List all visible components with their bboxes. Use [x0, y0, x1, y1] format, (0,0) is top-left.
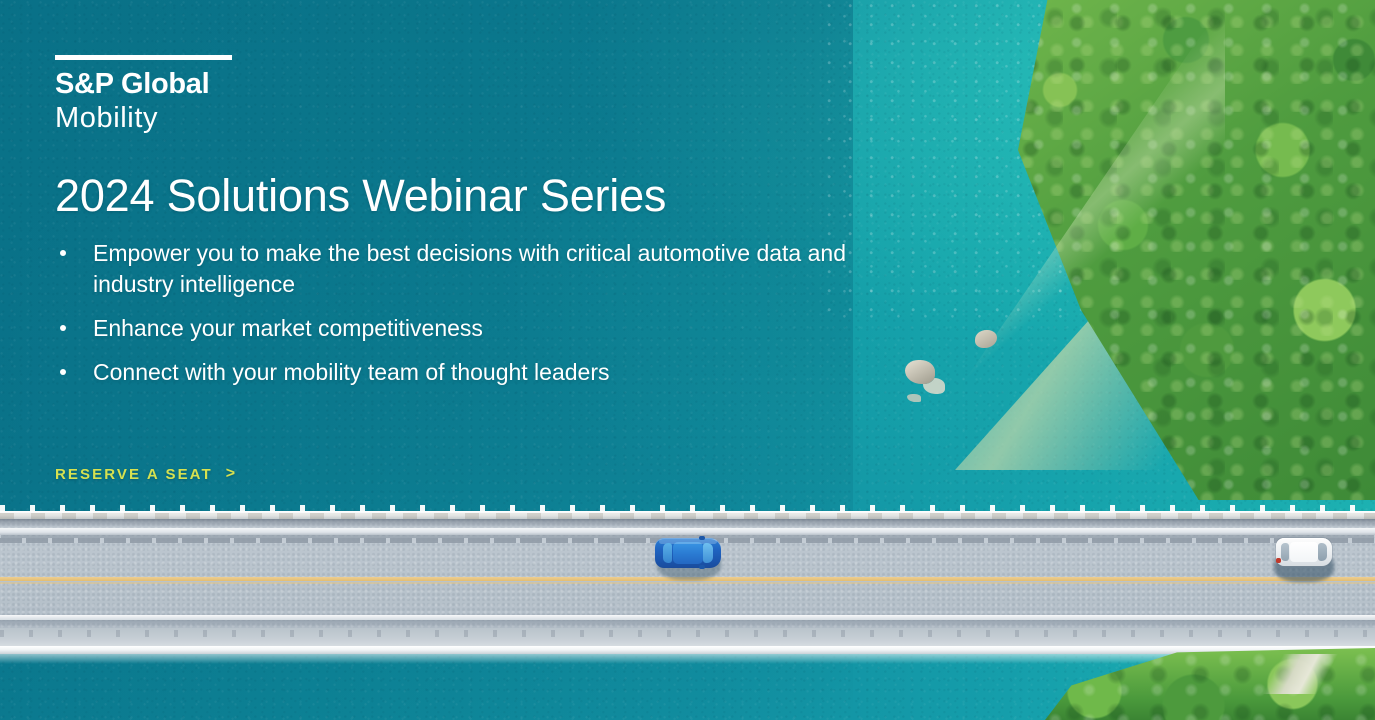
hero-content: S&P Global Mobility 2024 Solutions Webin…	[0, 0, 900, 500]
bridge-railing-posts-bottom	[0, 630, 1375, 637]
blue-car-rear-window	[663, 543, 672, 563]
white-car	[1274, 538, 1332, 580]
road-center-line-shadow	[0, 582, 1375, 584]
list-item: Connect with your mobility team of thoug…	[55, 357, 865, 388]
shore-rock	[905, 360, 935, 384]
bridge-barrier-top	[0, 528, 1375, 535]
benefits-list: Empower you to make the best decisions w…	[55, 238, 865, 401]
white-car-roof	[1290, 542, 1318, 562]
white-car-rear-window	[1281, 543, 1289, 561]
list-item-text: Enhance your market competitiveness	[93, 315, 483, 341]
list-item: Enhance your market competitiveness	[55, 313, 865, 344]
brand-name-secondary: Mobility	[55, 101, 475, 136]
list-item-text: Connect with your mobility team of thoug…	[93, 359, 610, 385]
blue-car	[655, 536, 721, 574]
blue-car-mirror	[699, 536, 705, 540]
white-car-taillight	[1276, 558, 1281, 563]
hero-banner: S&P Global Mobility 2024 Solutions Webin…	[0, 0, 1375, 720]
bridge-curb-bottom	[0, 646, 1375, 654]
page-title: 2024 Solutions Webinar Series	[55, 170, 666, 222]
reserve-a-seat-link[interactable]: RESERVE A SEAT >	[55, 465, 235, 483]
brand-rule-icon	[55, 55, 232, 60]
blue-car-mirror	[699, 565, 705, 569]
reserve-a-seat-label: RESERVE A SEAT	[55, 466, 213, 483]
brand-name-primary: S&P Global	[55, 69, 475, 99]
list-item: Empower you to make the best decisions w…	[55, 238, 865, 300]
shore-path	[1235, 654, 1375, 694]
bridge-railing-shadow-bottom	[0, 620, 1375, 628]
sp-global-mobility-logo: S&P Global Mobility	[55, 55, 475, 136]
white-car-windshield	[1318, 543, 1327, 561]
bridge-railing-shadow-top	[0, 519, 1375, 528]
bullet-icon	[60, 250, 66, 256]
blue-car-windshield	[703, 543, 713, 563]
chevron-right-icon: >	[226, 465, 235, 483]
bridge	[0, 497, 1375, 669]
bullet-icon	[60, 325, 66, 331]
list-item-text: Empower you to make the best decisions w…	[93, 240, 846, 297]
bullet-icon	[60, 369, 66, 375]
blue-car-roof	[673, 542, 703, 564]
